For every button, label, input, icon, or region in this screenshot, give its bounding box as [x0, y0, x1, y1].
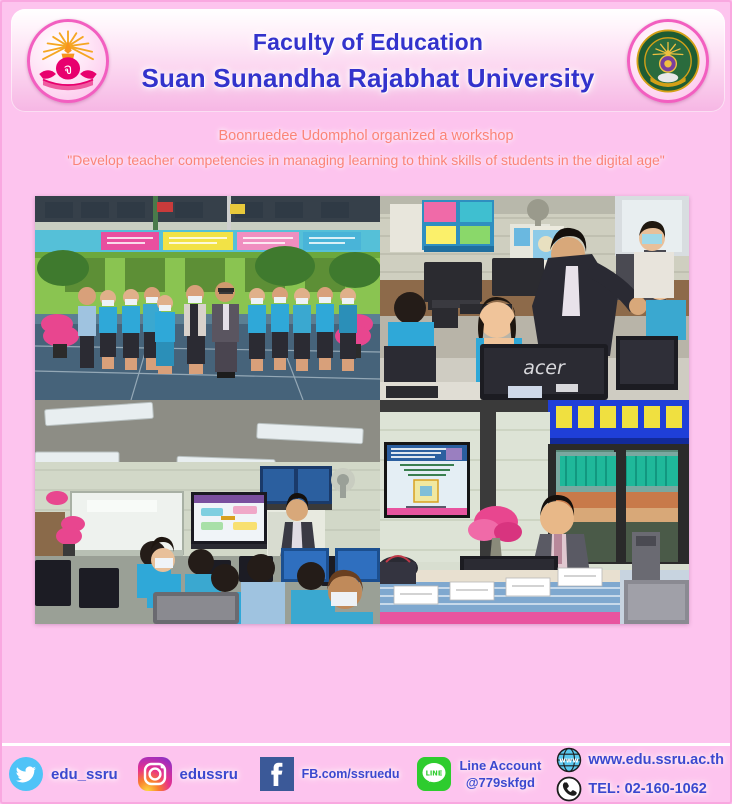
footer-item-phone[interactable]: TEL: 02-160-1062 [556, 776, 724, 802]
photo-classroom-presentation [35, 400, 380, 624]
university-title: Suan Sunandha Rajabhat University [121, 59, 615, 97]
footer-contact-bar: edu_ssru edussru [2, 743, 730, 802]
instagram-handle: edussru [180, 766, 238, 783]
svg-text:LINE: LINE [426, 769, 443, 777]
poster-page: จ Faculty of Education Suan Sunandha Raj… [0, 0, 732, 804]
photo-gallery: acer [35, 196, 689, 624]
event-caption: Boonruedee Udomphol organized a workshop… [2, 124, 730, 172]
svg-text:www: www [560, 756, 580, 764]
svg-text:จ: จ [64, 61, 73, 78]
line-account-label: Line Account [459, 757, 541, 774]
svg-text:acer: acer [523, 357, 566, 379]
photo-speaker-table [380, 400, 689, 624]
footer-item-twitter[interactable]: edu_ssru [8, 756, 118, 792]
photo-group-courtyard [35, 196, 380, 400]
instagram-icon[interactable] [137, 756, 173, 792]
facebook-page: FB.com/ssruedu [302, 767, 400, 781]
facebook-icon[interactable] [259, 756, 295, 792]
photo-computer-lab-assist: acer [380, 196, 689, 400]
line-account-block: Line Account @779skfgd [459, 757, 541, 791]
footer-item-website[interactable]: www www.edu.ssru.ac.th [556, 747, 724, 773]
footer-item-line[interactable]: LINE Line Account @779skfgd [416, 756, 541, 792]
website-url: www.edu.ssru.ac.th [588, 752, 724, 768]
phone-number: TEL: 02-160-1062 [588, 781, 706, 797]
ssru-crown-emblem-icon: จ [27, 19, 109, 103]
header-titles: Faculty of Education Suan Sunandha Rajab… [121, 25, 615, 97]
line-account-id: @779skfgd [466, 774, 535, 791]
footer-item-facebook[interactable]: FB.com/ssruedu [259, 756, 400, 792]
ssru-official-seal-icon [627, 19, 709, 103]
phone-icon[interactable] [556, 776, 582, 802]
caption-line-2: "Develop teacher competencies in managin… [2, 148, 730, 172]
globe-www-icon[interactable]: www [556, 747, 582, 773]
caption-line-1: Boonruedee Udomphol organized a workshop [2, 124, 730, 148]
twitter-icon[interactable] [8, 756, 44, 792]
line-icon[interactable]: LINE [416, 756, 452, 792]
footer-item-instagram[interactable]: edussru [137, 756, 238, 792]
faculty-title: Faculty of Education [121, 25, 615, 59]
header-banner: จ Faculty of Education Suan Sunandha Raj… [11, 9, 725, 112]
twitter-handle: edu_ssru [51, 766, 118, 783]
footer-contact-block: www www.edu.ssru.ac.th TEL: 02-160-1062 [556, 747, 724, 802]
